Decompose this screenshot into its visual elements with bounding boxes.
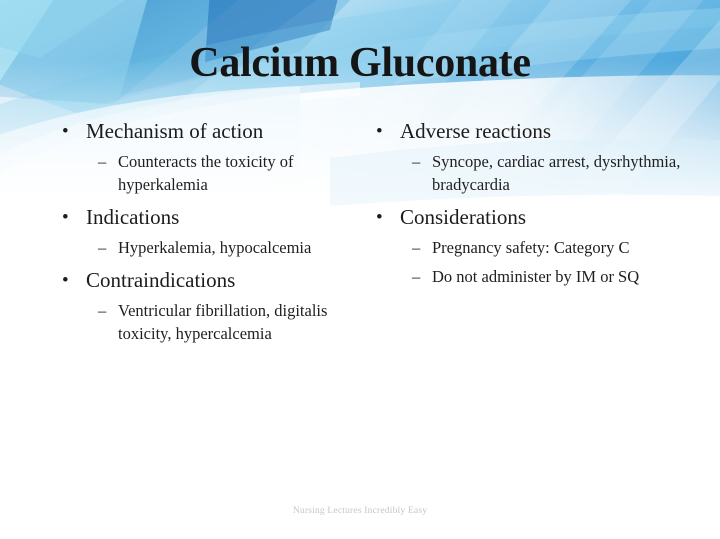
sub-bullet-label: Ventricular fibrillation, digitalis toxi… (118, 299, 362, 345)
sub-bullet-label: Do not administer by IM or SQ (432, 265, 686, 288)
dash-bullet-icon: – (98, 299, 106, 322)
sub-bullet-label: Syncope, cardiac arrest, dysrhythmia, br… (432, 150, 686, 196)
presentation-slide: Calcium Gluconate • Mechanism of action … (0, 0, 720, 539)
content-column-right: • Adverse reactions – Syncope, cardiac a… (366, 116, 686, 294)
sub-bullet-label: Hyperkalemia, hypocalcemia (118, 236, 362, 259)
bullet-heading: • Contraindications (52, 265, 362, 296)
bullet-point-icon: • (62, 116, 69, 147)
bullet-point-icon: • (376, 116, 383, 147)
slide-footer: Nursing Lectures Incredibly Easy (0, 505, 720, 518)
content-column-left: • Mechanism of action – Counteracts the … (52, 116, 362, 351)
bullet-group: • Indications – Hyperkalemia, hypocalcem… (52, 202, 362, 259)
sub-bullet: – Syncope, cardiac arrest, dysrhythmia, … (366, 150, 686, 196)
bullet-heading: • Considerations (366, 202, 686, 233)
sub-bullet: – Do not administer by IM or SQ (366, 265, 686, 288)
bullet-heading-label: Indications (86, 205, 179, 229)
dash-bullet-icon: – (98, 150, 106, 173)
bullet-heading-label: Contraindications (86, 268, 235, 292)
bullet-point-icon: • (376, 202, 383, 233)
bullet-group: • Considerations – Pregnancy safety: Cat… (366, 202, 686, 288)
sub-bullet-label: Pregnancy safety: Category C (432, 236, 686, 259)
dash-bullet-icon: – (412, 265, 420, 288)
bullet-heading: • Adverse reactions (366, 116, 686, 147)
bullet-heading: • Mechanism of action (52, 116, 362, 147)
dash-bullet-icon: – (412, 236, 420, 259)
dash-bullet-icon: – (98, 236, 106, 259)
bullet-heading-label: Considerations (400, 205, 526, 229)
bullet-group: • Mechanism of action – Counteracts the … (52, 116, 362, 196)
bullet-point-icon: • (62, 202, 69, 233)
bullet-group: • Contraindications – Ventricular fibril… (52, 265, 362, 345)
bullet-heading-label: Mechanism of action (86, 119, 263, 143)
bullet-point-icon: • (62, 265, 69, 296)
sub-bullet: – Hyperkalemia, hypocalcemia (52, 236, 362, 259)
dash-bullet-icon: – (412, 150, 420, 173)
sub-bullet: – Ventricular fibrillation, digitalis to… (52, 299, 362, 345)
slide-body: • Mechanism of action – Counteracts the … (0, 116, 720, 416)
slide-title: Calcium Gluconate (0, 38, 720, 88)
sub-bullet-label: Counteracts the toxicity of hyperkalemia (118, 150, 362, 196)
bullet-group: • Adverse reactions – Syncope, cardiac a… (366, 116, 686, 196)
bullet-heading-label: Adverse reactions (400, 119, 551, 143)
bullet-heading: • Indications (52, 202, 362, 233)
sub-bullet: – Pregnancy safety: Category C (366, 236, 686, 259)
sub-bullet: – Counteracts the toxicity of hyperkalem… (52, 150, 362, 196)
